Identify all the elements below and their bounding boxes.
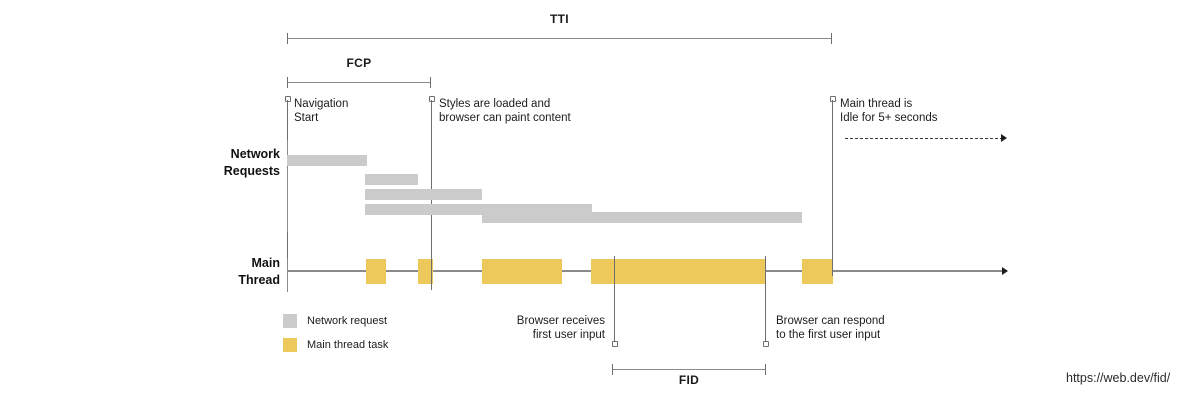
main-thread-axis-arrow-head	[1002, 267, 1008, 275]
fcp-bracket	[287, 77, 431, 88]
fcp-bracket-start-cap	[287, 77, 288, 88]
legend-network-request: Network request	[283, 314, 387, 328]
first-contentful-paint-label: Styles are loaded and browser can paint …	[439, 97, 571, 125]
navigation-start-marker-dot	[285, 96, 291, 102]
legend-main-thread-task-label: Main thread task	[307, 339, 388, 351]
network-requests-axis-label: Network Requests	[180, 146, 280, 180]
idle-duration-arrow-head	[1001, 134, 1007, 142]
fcp-bracket-line	[287, 82, 431, 83]
main-thread-axis-label: Main Thread	[180, 255, 280, 289]
first-input-response-marker-dot	[763, 341, 769, 347]
main-thread-task-bar	[802, 259, 833, 284]
tti-bracket	[287, 33, 832, 44]
network-request-bar	[365, 174, 418, 185]
network-request-bar	[287, 155, 367, 166]
main-thread-task-bar	[591, 259, 766, 284]
first-input-response-marker-line	[765, 256, 766, 342]
main-thread-task-bar	[366, 259, 386, 284]
network-lane-axis	[287, 140, 288, 232]
first-input-response-label: Browser can respond to the first user in…	[776, 314, 885, 342]
first-input-received-label: Browser receives first user input	[470, 314, 605, 342]
fid-bracket-line	[612, 369, 766, 370]
main-thread-lane-axis	[287, 258, 288, 292]
performance-timeline-diagram: TTI FCP FID Navigation Start Styles are …	[0, 0, 1200, 400]
idle-duration-dashed-line	[845, 138, 1003, 139]
legend-main-thread-task: Main thread task	[283, 338, 388, 352]
main-thread-idle-label: Main thread is Idle for 5+ seconds	[840, 97, 938, 125]
fcp-bracket-end-cap	[430, 77, 431, 88]
legend-network-request-swatch	[283, 314, 297, 328]
tti-label: TTI	[287, 12, 832, 26]
legend-main-thread-task-swatch	[283, 338, 297, 352]
navigation-start-label: Navigation Start	[294, 97, 348, 125]
fid-label: FID	[612, 373, 766, 387]
fcp-label: FCP	[287, 56, 431, 70]
tti-bracket-end-cap	[831, 33, 832, 44]
first-contentful-paint-marker-dot	[429, 96, 435, 102]
tti-bracket-line	[287, 38, 832, 39]
main-thread-idle-marker-dot	[830, 96, 836, 102]
first-contentful-paint-marker-line-overlay	[431, 258, 432, 290]
tti-bracket-start-cap	[287, 33, 288, 44]
network-request-bar	[365, 189, 482, 200]
first-input-received-marker-dot	[612, 341, 618, 347]
main-thread-idle-marker-line-overlay	[832, 250, 833, 276]
main-thread-task-bar	[482, 259, 562, 284]
legend-network-request-label: Network request	[307, 315, 387, 327]
first-input-received-marker-line	[614, 256, 615, 342]
network-request-bar	[482, 212, 802, 223]
source-url: https://web.dev/fid/	[1066, 371, 1170, 385]
